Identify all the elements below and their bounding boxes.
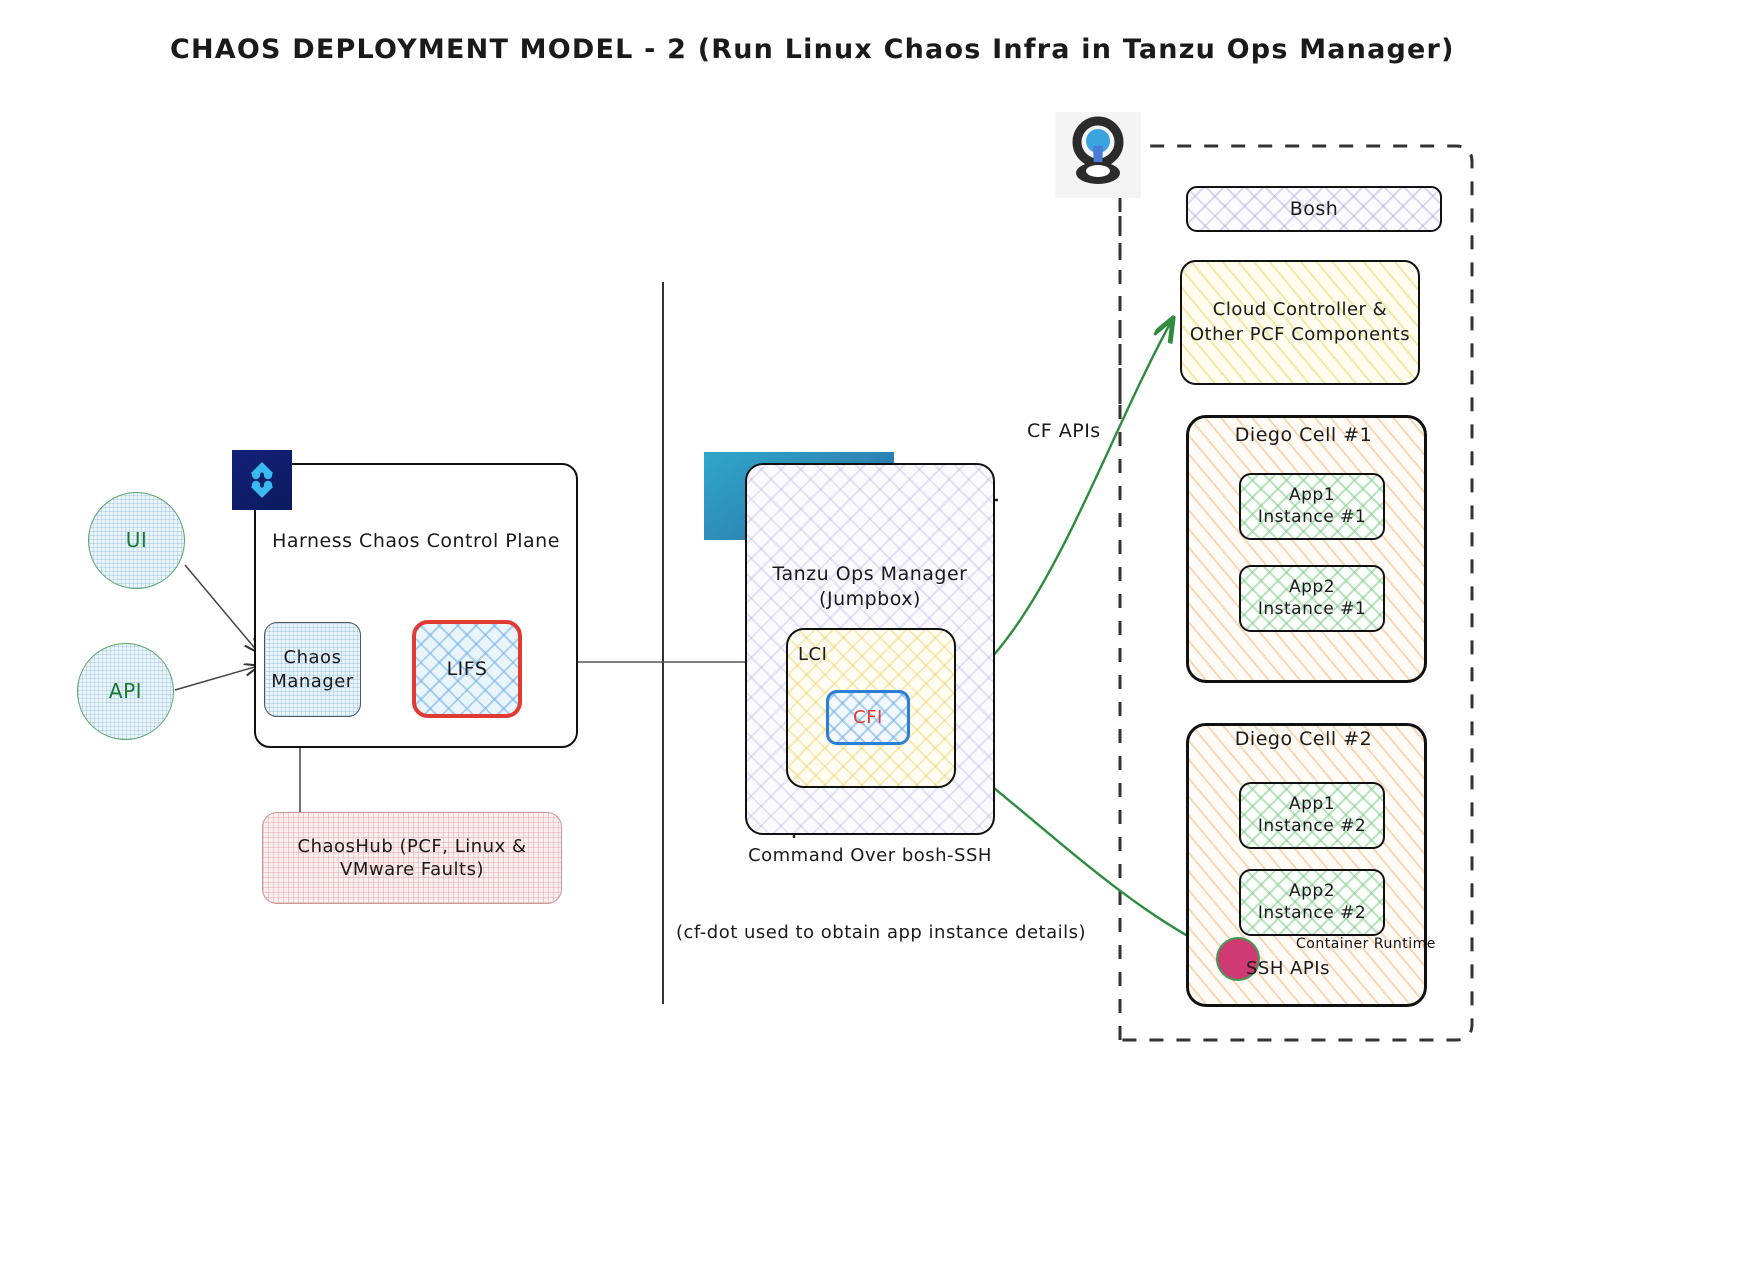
chaoshub-label-line2: VMware Faults) bbox=[340, 859, 484, 880]
app2-instance1-node[interactable]: App2 Instance #1 bbox=[1239, 565, 1385, 632]
tanzu-ops-label-line1: Tanzu Ops Manager bbox=[773, 563, 968, 585]
diego-cell-1-container bbox=[1186, 415, 1427, 683]
app2-instance2-node[interactable]: App2 Instance #2 bbox=[1239, 869, 1385, 936]
app2-instance1-line2: Instance #1 bbox=[1258, 599, 1366, 619]
app1-instance2-node[interactable]: App1 Instance #2 bbox=[1239, 782, 1385, 849]
app2-instance2-line1: App2 bbox=[1289, 881, 1335, 901]
ui-node[interactable]: UI bbox=[88, 492, 185, 589]
tanzu-ops-label-line2: (Jumpbox) bbox=[819, 588, 921, 610]
cloud-foundry-icon bbox=[1055, 112, 1141, 198]
chaoshub-node[interactable]: ChaosHub (PCF, Linux & VMware Faults) bbox=[262, 812, 562, 904]
lci-label: LCI bbox=[798, 644, 827, 665]
app2-instance1-line1: App2 bbox=[1289, 577, 1335, 597]
bosh-ssh-note: Command Over bosh-SSH bbox=[745, 845, 995, 866]
diego-cell-1-label: Diego Cell #1 bbox=[1186, 424, 1421, 446]
diego-cell-2-label: Diego Cell #2 bbox=[1186, 728, 1421, 750]
cfdot-note: (cf-dot used to obtain app instance deta… bbox=[676, 922, 1086, 943]
chaos-manager-label-line1: Chaos bbox=[284, 647, 342, 668]
diagram-canvas: CHAOS DEPLOYMENT MODEL - 2 (Run Linux Ch… bbox=[0, 0, 1759, 1269]
chaoshub-label-line1: ChaosHub (PCF, Linux & bbox=[298, 836, 527, 857]
container-runtime-edge-label: Container Runtime bbox=[1296, 936, 1436, 952]
cloud-controller-line2: Other PCF Components bbox=[1190, 324, 1410, 345]
bosh-node[interactable]: Bosh bbox=[1186, 186, 1442, 232]
lifs-node[interactable]: LIFS bbox=[412, 620, 522, 718]
app1-instance2-line1: App1 bbox=[1289, 794, 1335, 814]
tanzu-ops-manager-label: Tanzu Ops Manager (Jumpbox) bbox=[745, 562, 995, 611]
cfi-node[interactable]: CFI bbox=[826, 690, 910, 745]
cf-apis-edge-label: CF APIs bbox=[1027, 420, 1101, 442]
chaos-manager-node[interactable]: Chaos Manager bbox=[264, 622, 361, 717]
page-title: CHAOS DEPLOYMENT MODEL - 2 (Run Linux Ch… bbox=[170, 34, 1455, 65]
app1-instance1-line1: App1 bbox=[1289, 485, 1335, 505]
edge-api-to-chaos-manager bbox=[175, 666, 258, 690]
harness-chaos-control-plane-label: Harness Chaos Control Plane bbox=[254, 530, 578, 552]
api-node[interactable]: API bbox=[77, 643, 174, 740]
app2-instance2-line2: Instance #2 bbox=[1258, 903, 1366, 923]
chaos-manager-label-line2: Manager bbox=[271, 671, 353, 692]
ssh-apis-edge-label: SSH APIs bbox=[1246, 958, 1330, 979]
harness-logo-icon bbox=[232, 450, 292, 510]
app1-instance1-line2: Instance #1 bbox=[1258, 507, 1366, 527]
cloud-controller-node[interactable]: Cloud Controller & Other PCF Components bbox=[1180, 260, 1420, 385]
edge-ui-to-chaos-manager bbox=[185, 565, 258, 652]
cloud-controller-line1: Cloud Controller & bbox=[1213, 299, 1387, 320]
app1-instance1-node[interactable]: App1 Instance #1 bbox=[1239, 473, 1385, 540]
app1-instance2-line2: Instance #2 bbox=[1258, 816, 1366, 836]
